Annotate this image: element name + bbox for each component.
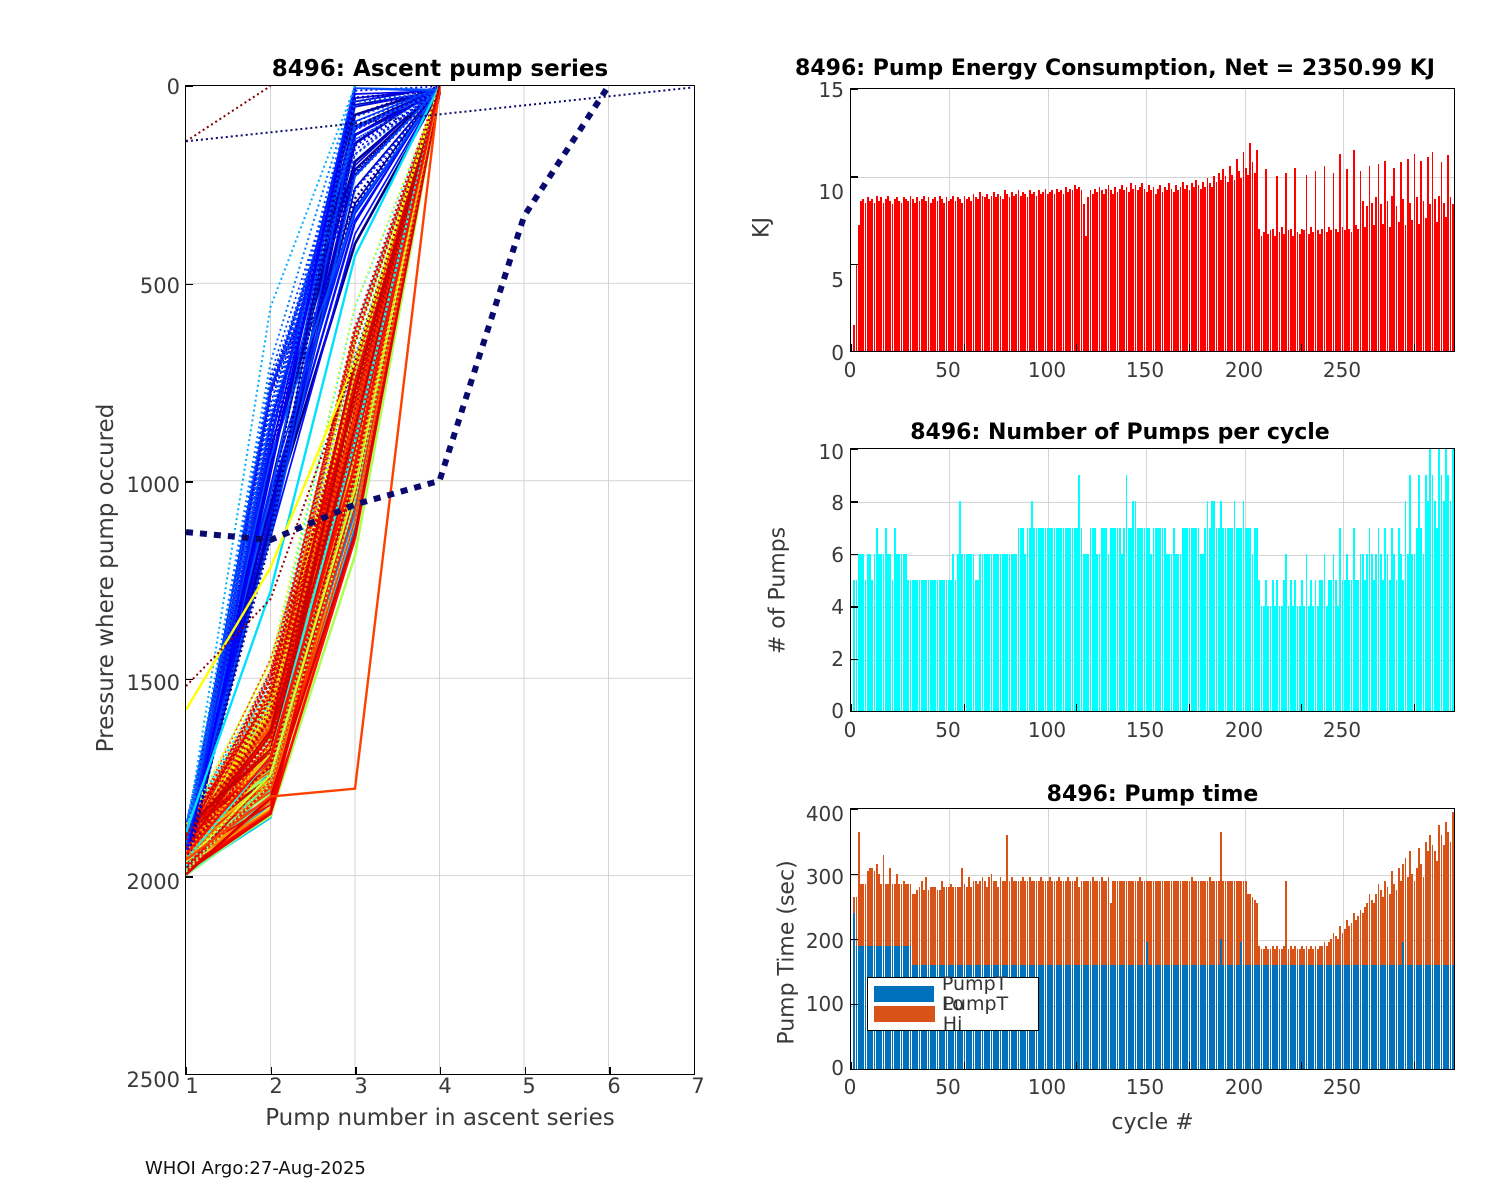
pumptime-xtick-150: 150 (1125, 1075, 1165, 1099)
ascent-ytick-1500: 1500 (118, 671, 180, 695)
ascent-ytick-500: 500 (130, 274, 180, 298)
x-tickmark (355, 1067, 356, 1074)
ascent-pump-series-panel: 8496: Ascent pump series Pressure where … (0, 0, 730, 1200)
legend-label-pumpt-hi: PumpT Hi (943, 994, 1032, 1034)
pumptime-ytick-100: 100 (784, 992, 844, 1016)
pumptime-bar-lo (1452, 965, 1454, 1069)
x-tickmark (1076, 1062, 1077, 1069)
x-tickmark (1189, 1062, 1190, 1069)
x-tickmark (271, 1067, 272, 1074)
legend-swatch-pumpt-lo (874, 986, 934, 1002)
x-tickmark (186, 1067, 187, 1074)
y-tickmark (186, 481, 193, 482)
x-tickmark (440, 1067, 441, 1074)
y-tickmark (851, 606, 858, 607)
ascent-xtick-4: 4 (425, 1074, 465, 1098)
energy-plot-area (850, 88, 1455, 352)
energy-ytick-15: 15 (802, 78, 844, 102)
x-tickmark (694, 1067, 695, 1074)
y-tickmark (186, 679, 193, 680)
y-tickmark (186, 284, 193, 285)
ascent-lines (186, 86, 693, 1073)
y-tickmark (851, 1069, 858, 1070)
pumptime-xtick-200: 200 (1224, 1075, 1264, 1099)
y-tickmark (851, 659, 858, 660)
ascent-line-cycle-260 (186, 86, 271, 141)
ascent-xtick-6: 6 (594, 1074, 634, 1098)
x-tickmark (964, 344, 965, 351)
y-tickmark (851, 264, 858, 265)
pump-time-panel: 8496: Pump time Pump Time (sec) cycle # … (730, 720, 1500, 1170)
y-tickmark (186, 1074, 193, 1075)
y-tickmark (186, 876, 193, 877)
pumps-plot-area (850, 448, 1455, 712)
y-tickmark (851, 711, 858, 712)
legend-swatch-pumpt-hi (874, 1006, 935, 1022)
y-tickmark (851, 554, 858, 555)
y-tickmark (851, 809, 858, 810)
x-tickmark (1414, 1062, 1415, 1069)
ascent-panel-title: 8496: Ascent pump series (185, 56, 695, 82)
y-tickmark (851, 176, 858, 177)
energy-ytick-10: 10 (802, 180, 844, 204)
x-tickmark (964, 704, 965, 711)
pumptime-bar-hi (1452, 812, 1454, 965)
x-tickmark (1301, 704, 1302, 711)
x-tickmark (851, 704, 852, 711)
ascent-ytick-1000: 1000 (118, 473, 180, 497)
pumptime-plot-area: PumpT Lo PumpT Hi (850, 808, 1455, 1070)
energy-ytick-5: 5 (802, 268, 844, 292)
ascent-xtick-7: 7 (678, 1074, 718, 1098)
x-tickmark (525, 1067, 526, 1074)
energy-y-axis-label: KJ (750, 188, 775, 268)
y-tickmark (851, 351, 858, 352)
ascent-x-axis-label: Pump number in ascent series (185, 1105, 695, 1131)
pumps-ytick-10: 10 (796, 440, 844, 464)
pumps-panel-title: 8496: Number of Pumps per cycle (790, 420, 1450, 445)
ascent-y-axis-label: Pressure where pump occured (93, 368, 119, 788)
pump-energy-panel: 8496: Pump Energy Consumption, Net = 235… (730, 0, 1500, 400)
footer-credit: WHOI Argo:27-Aug-2025 (145, 1158, 366, 1179)
x-tickmark (1189, 704, 1190, 711)
ascent-xtick-5: 5 (509, 1074, 549, 1098)
x-tickmark (1189, 344, 1190, 351)
pumptime-ytick-400: 400 (784, 802, 844, 826)
pumps-ytick-6: 6 (796, 543, 844, 567)
pumptime-xtick-0: 0 (830, 1075, 870, 1099)
ascent-xtick-1: 1 (172, 1074, 212, 1098)
ascent-ytick-2000: 2000 (118, 870, 180, 894)
x-tickmark (1414, 344, 1415, 351)
ascent-plot-area (185, 85, 695, 1075)
pumps-ytick-2: 2 (796, 647, 844, 671)
x-tickmark (609, 1067, 610, 1074)
y-tickmark (851, 1004, 858, 1005)
number-of-pumps-panel: 8496: Number of Pumps per cycle # of Pum… (730, 360, 1500, 760)
pumptime-x-axis-label: cycle # (850, 1110, 1455, 1135)
pumps-ytick-4: 4 (796, 595, 844, 619)
ascent-ytick-0: 0 (130, 75, 180, 99)
x-tickmark (1301, 1062, 1302, 1069)
y-tickmark (851, 874, 858, 875)
x-tickmark (851, 1062, 852, 1069)
pumptime-ytick-200: 200 (784, 929, 844, 953)
x-tickmark (851, 344, 852, 351)
y-tickmark (851, 89, 858, 90)
x-tickmark (1414, 704, 1415, 711)
pumptime-ytick-300: 300 (784, 865, 844, 889)
pumptime-panel-title: 8496: Pump time (850, 782, 1455, 807)
pumps-ytick-8: 8 (796, 491, 844, 515)
x-tickmark (1076, 704, 1077, 711)
ascent-xtick-2: 2 (256, 1074, 296, 1098)
x-tickmark (1076, 344, 1077, 351)
y-tickmark (186, 86, 193, 87)
energy-bar (1452, 204, 1454, 351)
legend-row-pumpt-hi: PumpT Hi (874, 1004, 1032, 1024)
pumptime-legend: PumpT Lo PumpT Hi (867, 977, 1039, 1031)
x-tickmark (964, 1062, 965, 1069)
pumps-bar (1452, 449, 1454, 711)
x-tickmark (1301, 344, 1302, 351)
ascent-xtick-3: 3 (341, 1074, 381, 1098)
y-tickmark (851, 449, 858, 450)
pumptime-xtick-100: 100 (1027, 1075, 1067, 1099)
y-tickmark (851, 501, 858, 502)
energy-panel-title: 8496: Pump Energy Consumption, Net = 235… (735, 56, 1495, 81)
pumptime-xtick-50: 50 (928, 1075, 968, 1099)
ascent-ytick-2500: 2500 (118, 1068, 180, 1092)
pumptime-xtick-250: 250 (1322, 1075, 1362, 1099)
y-tickmark (851, 939, 858, 940)
pumps-y-axis-label: # of Pumps (766, 491, 791, 691)
